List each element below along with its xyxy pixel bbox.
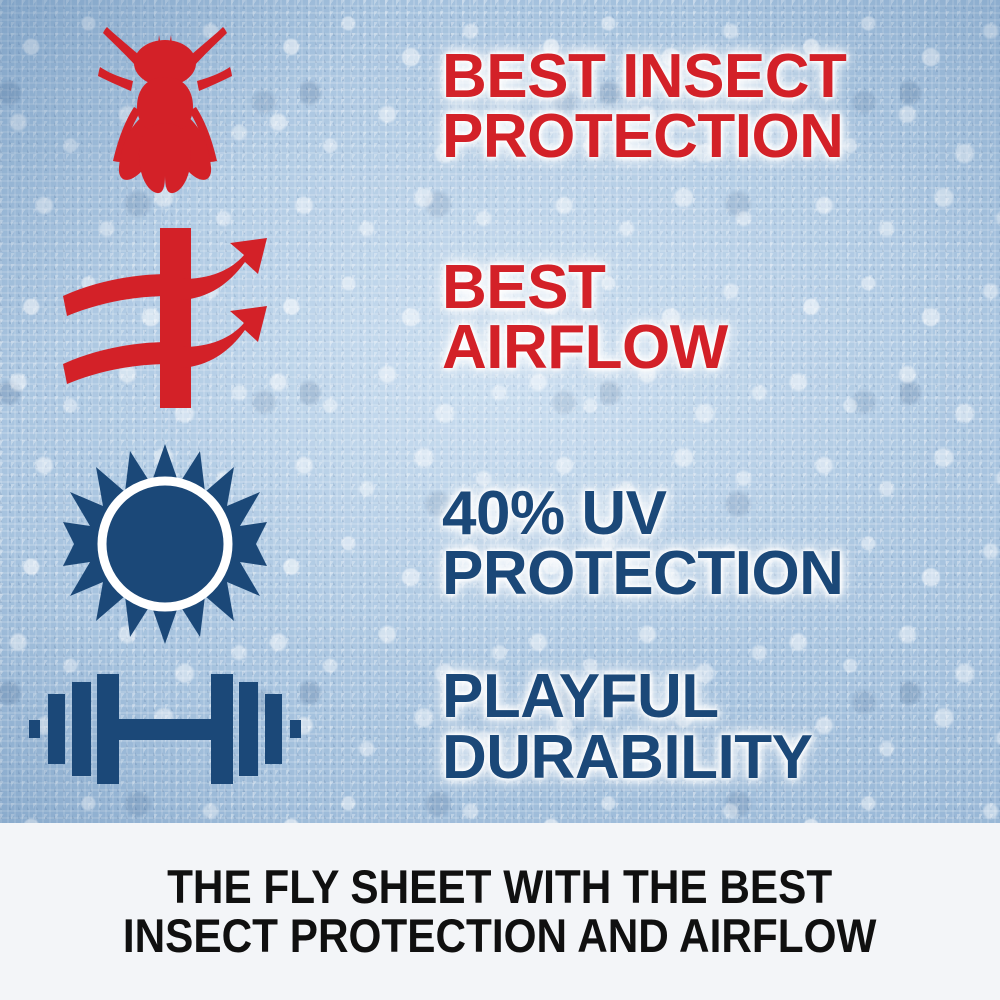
feature-row-insect-protection: BEST INSECT PROTECTION xyxy=(0,18,1000,196)
caption-headline: THE FLY SHEET WITH THE BEST INSECT PROTE… xyxy=(123,863,877,960)
caption-band: THE FLY SHEET WITH THE BEST INSECT PROTE… xyxy=(0,823,1000,1000)
dumbbell-icon xyxy=(27,660,303,796)
feature-row-uv-protection: 40% UV PROTECTION xyxy=(0,438,1000,650)
fly-icon xyxy=(91,19,239,195)
dumbbell-icon-cell xyxy=(0,650,330,805)
feature-row-durability: PLAYFUL DURABILITY xyxy=(0,650,1000,805)
feature-label-durability: PLAYFUL DURABILITY xyxy=(442,667,812,787)
feature-label-airflow: BEST AIRFLOW xyxy=(442,258,728,378)
sun-uv-icon xyxy=(60,440,270,648)
sun-uv-icon-cell xyxy=(0,438,330,650)
feature-label-uv-protection: 40% UV PROTECTION xyxy=(442,484,843,604)
feature-row-airflow: BEST AIRFLOW xyxy=(0,222,1000,414)
airflow-through-barrier-icon xyxy=(59,224,271,412)
airflow-icon-cell xyxy=(0,222,330,414)
fly-icon-cell xyxy=(0,18,330,196)
product-feature-infographic: BEST INSECT PROTECTION BEST AIRFLOW xyxy=(0,0,1000,1000)
feature-label-insect-protection: BEST INSECT PROTECTION xyxy=(442,47,846,167)
